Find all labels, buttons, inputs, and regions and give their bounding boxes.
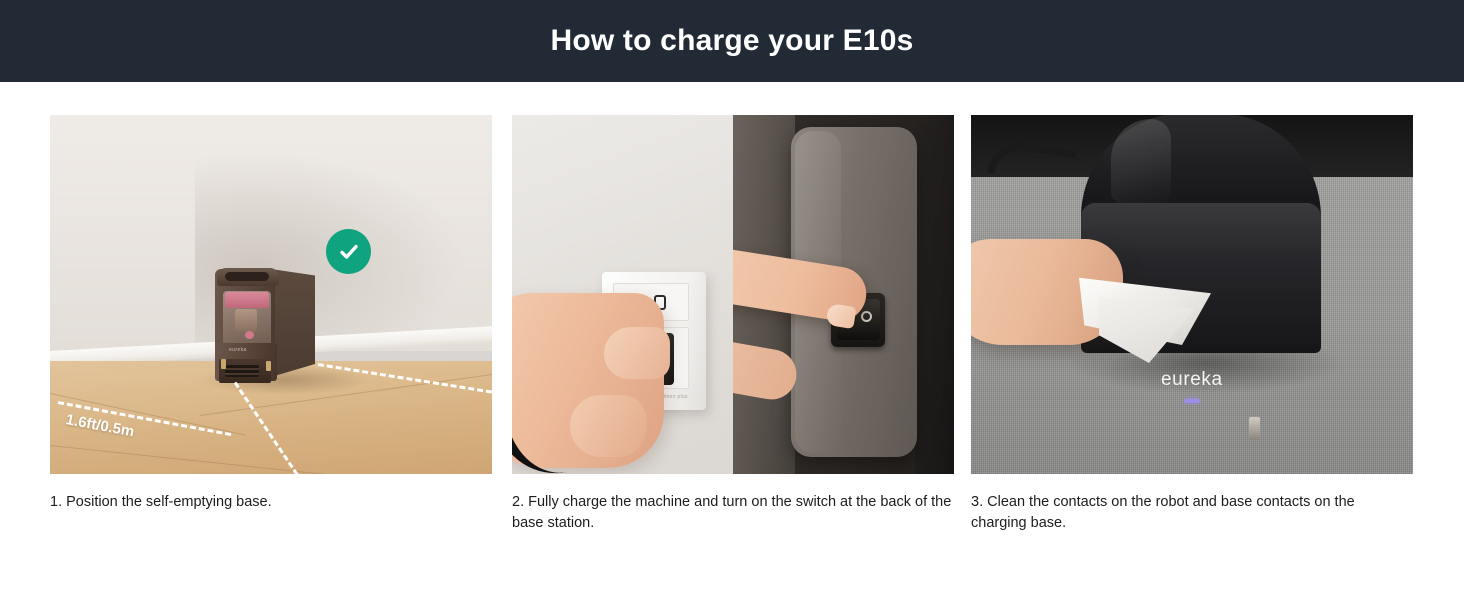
power-symbol-icon [861, 311, 872, 322]
step-2-photo-outlet: Simon plus [512, 115, 733, 474]
dome-highlight [1111, 119, 1171, 205]
step-1: eureka 1.6ft/0.5m 4.9ft/1.5m 1.6ft/0.5m [50, 115, 492, 513]
step-2: Simon plus [512, 115, 954, 533]
check-icon [336, 239, 362, 265]
step-1-caption: 1. Position the self-emptying base. [50, 492, 492, 513]
ramp-grille [225, 365, 259, 377]
dust-cup-debris [245, 331, 254, 339]
status-led [1184, 399, 1200, 403]
base-station: eureka [215, 271, 325, 381]
index-finger [604, 327, 670, 379]
dust-cup-filter-top [225, 292, 269, 308]
header-bar: How to charge your E10s [0, 0, 1464, 82]
steps-row: eureka 1.6ft/0.5m 4.9ft/1.5m 1.6ft/0.5m [0, 82, 1464, 600]
step-2-photo: Simon plus [512, 115, 954, 474]
step-3-photo: eureka [971, 115, 1413, 474]
step-2-photo-switch [733, 115, 954, 474]
check-badge [326, 229, 371, 274]
step-3-caption: 3. Clean the contacts on the robot and b… [971, 492, 1413, 533]
background-right [915, 115, 954, 474]
charging-contact-right [266, 361, 271, 371]
lid-slot [225, 272, 269, 281]
outlet-brand-text: Simon plus [660, 394, 688, 400]
robot-brand-logo: eureka [1161, 369, 1223, 391]
dust-cup-filter [235, 309, 257, 331]
step-2-caption: 2. Fully charge the machine and turn on … [512, 492, 954, 533]
step-1-photo: eureka 1.6ft/0.5m 4.9ft/1.5m 1.6ft/0.5m [50, 115, 492, 474]
charging-contact [1249, 417, 1260, 439]
base-station-brand-logo: eureka [229, 347, 247, 353]
instruction-graphic-page: How to charge your E10s [0, 0, 1464, 600]
charging-contact-left [221, 359, 226, 369]
step-3: eureka 3. Clean the contacts on the robo… [971, 115, 1413, 533]
page-title: How to charge your E10s [550, 24, 913, 58]
